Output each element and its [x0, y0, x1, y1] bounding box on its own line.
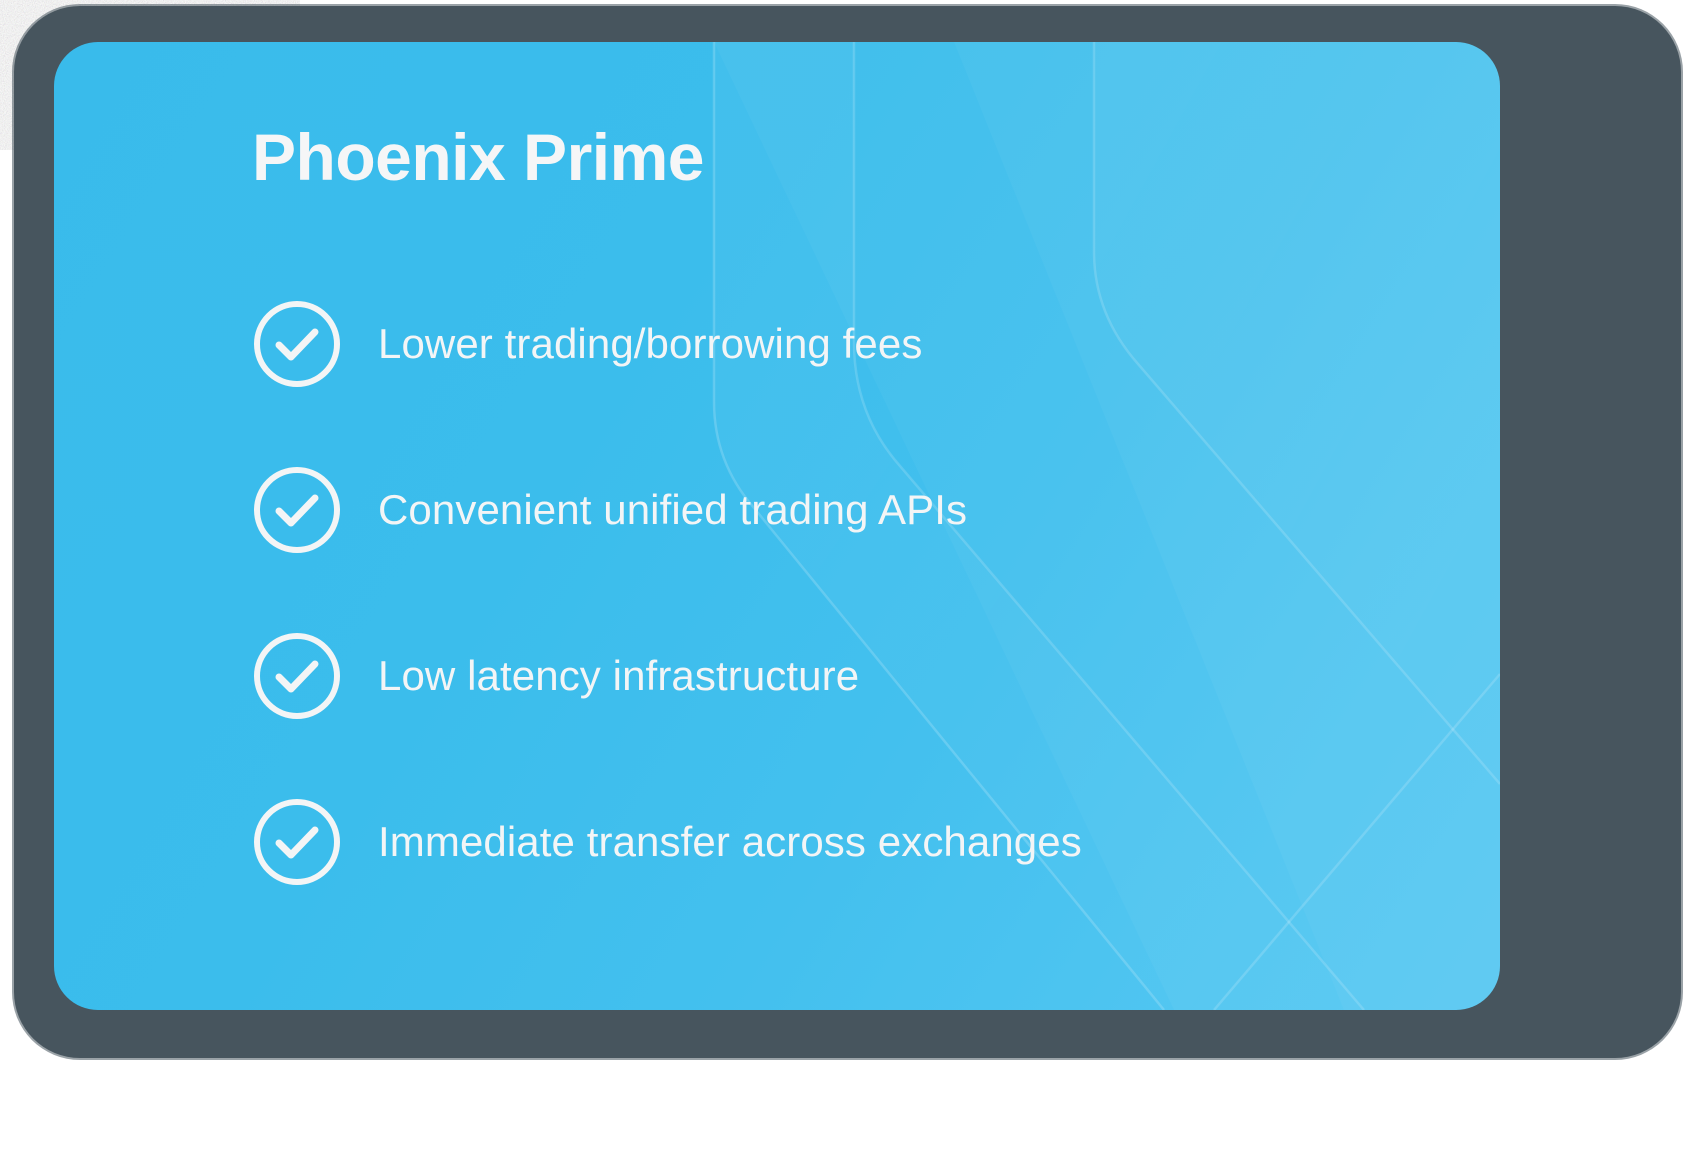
- list-item-label: Lower trading/borrowing fees: [378, 323, 922, 365]
- list-item: Lower trading/borrowing fees: [252, 300, 1432, 388]
- list-item: Convenient unified trading APIs: [252, 466, 1432, 554]
- list-item-label: Convenient unified trading APIs: [378, 489, 967, 531]
- check-circle-icon: [252, 631, 342, 721]
- card-frame: Phoenix Prime Lower trading/borrowing fe…: [14, 6, 1681, 1058]
- promo-card: Phoenix Prime Lower trading/borrowing fe…: [54, 42, 1500, 1010]
- check-circle-icon: [252, 797, 342, 887]
- page-title: Phoenix Prime: [252, 124, 704, 190]
- list-item: Low latency infrastructure: [252, 632, 1432, 720]
- card-content: Phoenix Prime Lower trading/borrowing fe…: [54, 42, 1500, 1010]
- list-item: Immediate transfer across exchanges: [252, 798, 1432, 886]
- feature-list: Lower trading/borrowing fees Convenient …: [252, 300, 1432, 886]
- check-circle-icon: [252, 465, 342, 555]
- list-item-label: Low latency infrastructure: [378, 655, 859, 697]
- check-circle-icon: [252, 299, 342, 389]
- list-item-label: Immediate transfer across exchanges: [378, 821, 1082, 863]
